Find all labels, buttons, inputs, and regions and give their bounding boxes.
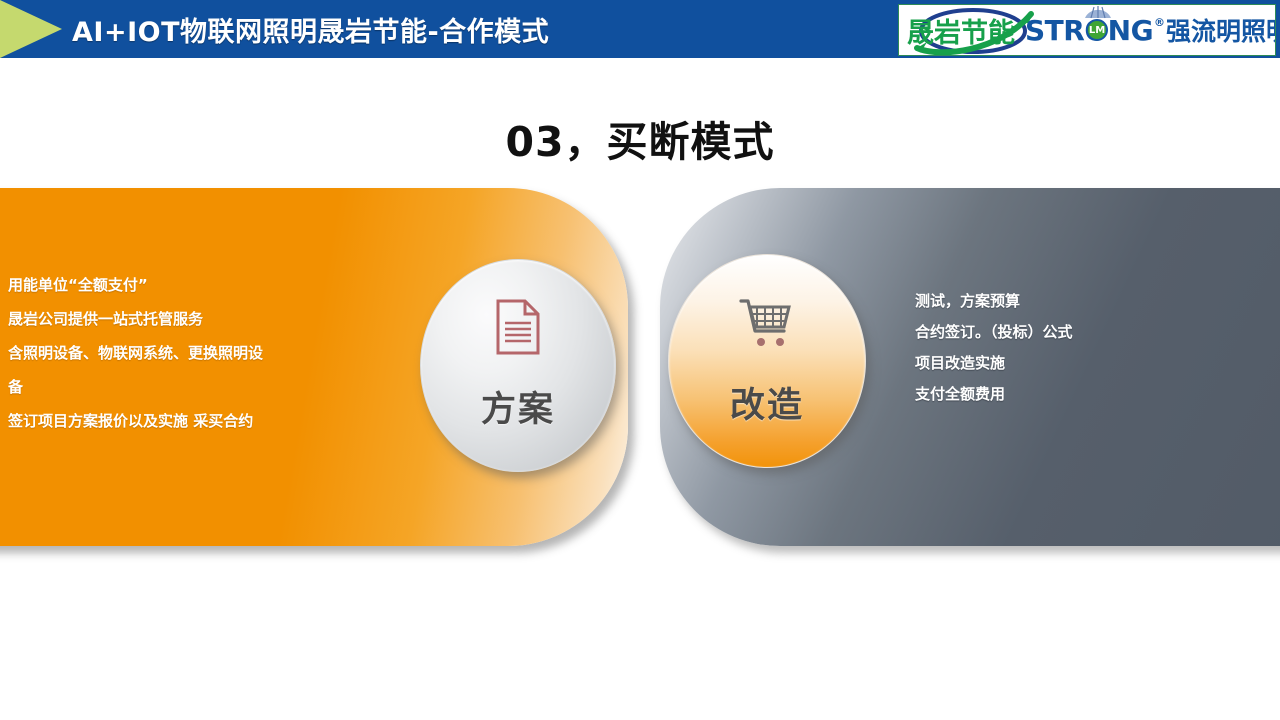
left-text-line-5: 签订项目方案报价以及实施 采买合约 bbox=[8, 404, 348, 438]
left-text-line-4: 备 bbox=[8, 370, 348, 404]
left-text-line-1: 用能单位“全额支付” bbox=[8, 268, 348, 302]
document-icon bbox=[490, 299, 546, 355]
right-panel-text-block: 测试，方案预算 合约签订。（投标）公式 项目改造实施 支付全额费用 bbox=[915, 286, 1245, 410]
registered-trademark-icon: ® bbox=[1154, 16, 1165, 29]
left-text-line-2: 晟岩公司提供一站式托管服务 bbox=[8, 302, 348, 336]
content-panels: 用能单位“全额支付” 晟岩公司提供一站式托管服务 含照明设备、物联网系统、更换照… bbox=[0, 0, 1280, 720]
logo-chinese-name: 晟岩节能 bbox=[907, 11, 1015, 50]
circle-retrofit-label: 改造 bbox=[730, 377, 804, 428]
slide-root: AI+IOT物联网照明晟岩节能-合作模式 晟岩节能 STRONG LM bbox=[0, 0, 1280, 720]
shopping-cart-icon bbox=[739, 295, 795, 351]
right-text-line-4: 支付全额费用 bbox=[915, 379, 1245, 410]
circle-plan[interactable]: 方案 bbox=[420, 259, 616, 472]
logo-fan-icon bbox=[1083, 5, 1113, 19]
right-text-line-1: 测试，方案预算 bbox=[915, 286, 1245, 317]
right-text-line-3: 项目改造实施 bbox=[915, 348, 1245, 379]
circle-plan-label: 方案 bbox=[481, 381, 555, 432]
logo-lm-badge: LM bbox=[1086, 19, 1108, 41]
circle-retrofit[interactable]: 改造 bbox=[668, 254, 866, 468]
right-text-line-2: 合约签订。（投标）公式 bbox=[915, 317, 1245, 348]
left-panel-text-block: 用能单位“全额支付” 晟岩公司提供一站式托管服务 含照明设备、物联网系统、更换照… bbox=[8, 268, 348, 438]
left-text-line-3: 含照明设备、物联网系统、更换照明设 bbox=[8, 336, 348, 370]
